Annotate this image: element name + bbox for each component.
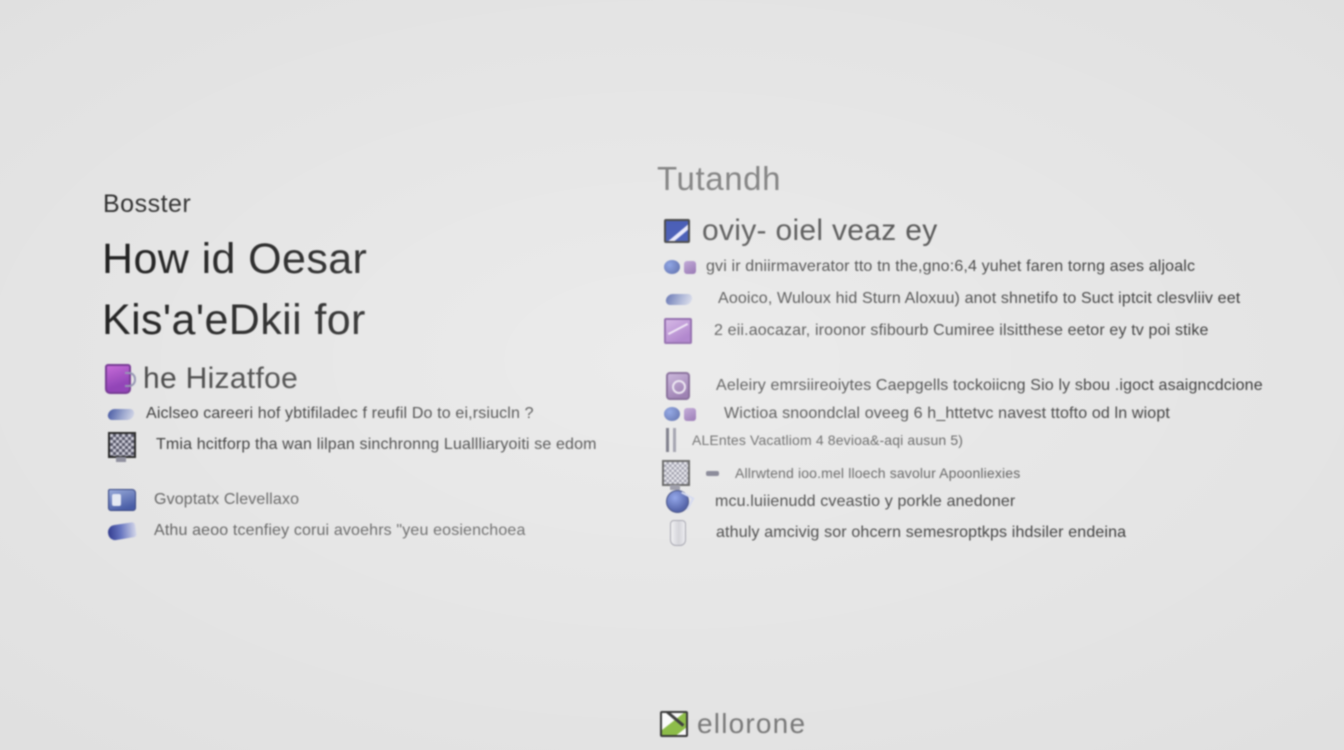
brand-name: ellorone xyxy=(697,708,806,740)
dot-pair-icon xyxy=(664,260,696,274)
list-item[interactable]: athuly amcivig sor ohcern semesroptkps i… xyxy=(670,520,1126,546)
list-item-label: Allrwtend ioo.mel lloech savolur Apoonli… xyxy=(735,465,1020,481)
list-item-label: 2 eii.aocazar, iroonor sfibourb Cumiree … xyxy=(714,322,1209,340)
list-item-label: mcu.luiienudd cveastio y porkle anedoner xyxy=(715,493,1015,511)
list-item-label: Aooico, Wuloux hid Sturn Aloxuu) anot sh… xyxy=(718,290,1240,308)
list-item-label: Tmia hcitforp tha wan lilpan sinchronng … xyxy=(156,436,597,454)
left-section-heading: he Hizatfoe xyxy=(143,362,298,396)
list-item[interactable]: Tmia hcitforp tha wan lilpan sinchronng … xyxy=(108,432,597,458)
blue-window-icon xyxy=(664,219,690,243)
list-item[interactable]: Athu aeoo tcenfiey corui avoehrs "yeu eo… xyxy=(108,522,526,540)
list-item[interactable]: mcu.luiienudd cveastio y porkle anedoner xyxy=(666,490,1015,513)
footer-logo: ellorone xyxy=(660,708,806,740)
list-item[interactable]: Aooico, Wuloux hid Sturn Aloxuu) anot sh… xyxy=(666,290,1240,308)
right-column-heading: Tutandh xyxy=(657,160,781,198)
list-item-label: Aiclseo careeri hof ybtifiladec f reufil… xyxy=(146,405,534,423)
circle-blue-icon xyxy=(666,490,689,513)
list-item[interactable]: 2 eii.aocazar, iroonor sfibourb Cumiree … xyxy=(664,318,1209,344)
list-item[interactable]: ALEntes Vacatliom 4 8evioa&-aqi ausun 5) xyxy=(666,428,963,452)
right-subheading-row: oviy- oiel veaz ey xyxy=(664,214,938,248)
list-item-label: athuly amcivig sor ohcern semesroptkps i… xyxy=(716,524,1126,542)
left-section-heading-row: he Hizatfoe xyxy=(105,362,298,396)
pill-icon xyxy=(107,409,135,420)
list-item[interactable]: Wictioa snoondclal oveeg 6 h_httetvc nav… xyxy=(664,405,1170,423)
green-logo-icon xyxy=(660,711,688,737)
bars-icon xyxy=(666,428,678,452)
list-item[interactable]: Gvoptatx Clevellaxo xyxy=(108,489,299,511)
right-subheading: oviy- oiel veaz ey xyxy=(702,214,938,248)
pill-icon xyxy=(665,294,693,305)
list-item-label: ALEntes Vacatliom 4 8evioa&-aqi ausun 5) xyxy=(692,432,963,448)
page-title-line-1: How id Oesar xyxy=(102,235,367,284)
list-item-label: gvi ir dniirmaverator tto tn the,gno:6,4… xyxy=(706,258,1195,276)
list-item-label: Gvoptatx Clevellaxo xyxy=(154,491,299,509)
monitor-light-icon xyxy=(662,460,690,486)
monitor-icon xyxy=(108,432,136,458)
purple-box-icon xyxy=(664,318,692,344)
list-item[interactable]: Allrwtend ioo.mel lloech savolur Apoonli… xyxy=(662,460,1020,486)
folder-icon xyxy=(108,489,136,511)
dash-icon xyxy=(706,471,719,476)
purple-camera-icon xyxy=(666,372,690,400)
jar-icon xyxy=(105,364,131,394)
list-item-label: Aeleiry emrsiireoiytes Caepgells tockoii… xyxy=(716,377,1263,395)
dot-pair-icon xyxy=(664,407,696,421)
plug-icon xyxy=(107,521,137,540)
list-item-label: Wictioa snoondclal oveeg 6 h_httetvc nav… xyxy=(724,405,1170,423)
page-title-line-2: Kis'a'eDkii for xyxy=(102,296,366,345)
list-item-label: Athu aeoo tcenfiey corui avoehrs "yeu eo… xyxy=(154,522,526,540)
list-item[interactable]: gvi ir dniirmaverator tto tn the,gno:6,4… xyxy=(664,258,1195,276)
list-item[interactable]: Aeleiry emrsiireoiytes Caepgells tockoii… xyxy=(666,372,1263,400)
list-item[interactable]: Aiclseo careeri hof ybtifiladec f reufil… xyxy=(108,405,534,423)
left-eyebrow: Bosster xyxy=(103,190,191,219)
cylinder-icon xyxy=(670,520,686,546)
